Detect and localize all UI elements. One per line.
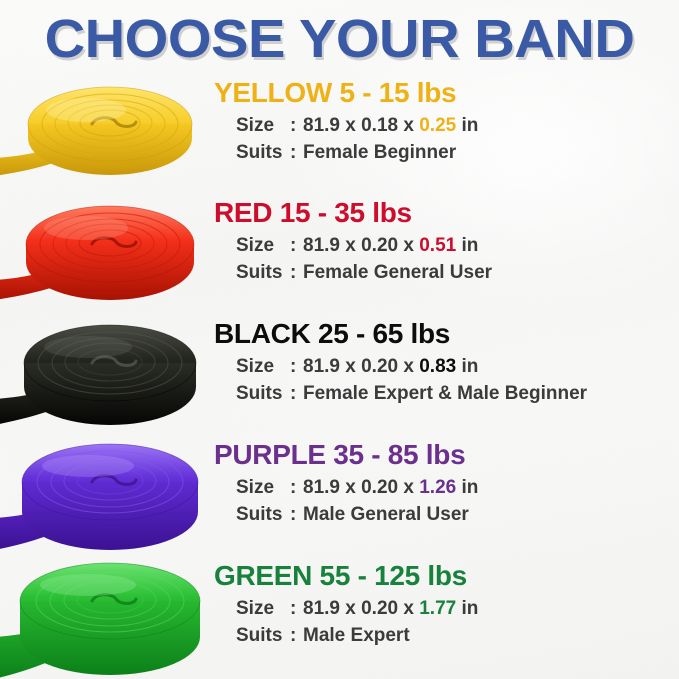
size-unit: in bbox=[461, 115, 478, 136]
suits-label: Suits bbox=[236, 139, 290, 166]
band-row: GREEN 55 - 125 lbs Size:81.9 x 0.20 x 1.… bbox=[0, 555, 679, 675]
size-colon: : bbox=[290, 474, 303, 501]
suits-value: Female General User bbox=[303, 262, 492, 283]
band-row: RED 15 - 35 lbs Size:81.9 x 0.20 x 0.51 … bbox=[0, 192, 679, 312]
band-size-line: Size:81.9 x 0.18 x 0.25 in bbox=[236, 112, 679, 139]
band-heading: YELLOW 5 - 15 lbs bbox=[214, 76, 679, 110]
band-row: YELLOW 5 - 15 lbs Size:81.9 x 0.18 x 0.2… bbox=[0, 72, 679, 192]
band-heading: BLACK 25 - 65 lbs bbox=[214, 317, 679, 351]
suits-label: Suits bbox=[236, 501, 290, 528]
band-photo-yellow bbox=[0, 72, 212, 196]
suits-value: Female Expert & Male Beginner bbox=[303, 383, 587, 404]
suits-colon: : bbox=[290, 259, 303, 286]
suits-label: Suits bbox=[236, 259, 290, 286]
size-label: Size bbox=[236, 232, 290, 259]
band-suits-line: Suits:Female Expert & Male Beginner bbox=[236, 380, 679, 407]
band-suits-line: Suits:Female General User bbox=[236, 259, 679, 286]
size-unit: in bbox=[461, 356, 478, 377]
band-row: PURPLE 35 - 85 lbs Size:81.9 x 0.20 x 1.… bbox=[0, 434, 679, 554]
size-label: Size bbox=[236, 353, 290, 380]
suits-value: Male General User bbox=[303, 504, 469, 525]
size-colon: : bbox=[290, 595, 303, 622]
band-size-line: Size:81.9 x 0.20 x 1.26 in bbox=[236, 474, 679, 501]
band-info: GREEN 55 - 125 lbs Size:81.9 x 0.20 x 1.… bbox=[214, 555, 679, 649]
band-photo-purple bbox=[0, 434, 212, 558]
page-title: CHOOSE YOUR BAND bbox=[0, 8, 679, 70]
size-prefix: 81.9 x 0.20 x bbox=[303, 477, 414, 498]
size-label: Size bbox=[236, 595, 290, 622]
band-photo-green bbox=[0, 555, 212, 679]
size-colon: : bbox=[290, 353, 303, 380]
suits-colon: : bbox=[290, 622, 303, 649]
size-highlight: 0.83 bbox=[419, 356, 456, 377]
band-heading: RED 15 - 35 lbs bbox=[214, 196, 679, 230]
size-prefix: 81.9 x 0.20 x bbox=[303, 598, 414, 619]
band-row: BLACK 25 - 65 lbs Size:81.9 x 0.20 x 0.8… bbox=[0, 313, 679, 433]
size-prefix: 81.9 x 0.20 x bbox=[303, 356, 414, 377]
band-info: YELLOW 5 - 15 lbs Size:81.9 x 0.18 x 0.2… bbox=[214, 72, 679, 166]
suits-value: Male Expert bbox=[303, 625, 410, 646]
band-info: BLACK 25 - 65 lbs Size:81.9 x 0.20 x 0.8… bbox=[214, 313, 679, 407]
size-highlight: 1.26 bbox=[419, 477, 456, 498]
size-highlight: 0.51 bbox=[419, 235, 456, 256]
band-photo-black bbox=[0, 313, 212, 437]
band-suits-line: Suits:Male Expert bbox=[236, 622, 679, 649]
size-unit: in bbox=[461, 235, 478, 256]
suits-colon: : bbox=[290, 501, 303, 528]
band-photo-red bbox=[0, 192, 212, 316]
size-unit: in bbox=[461, 477, 478, 498]
size-colon: : bbox=[290, 232, 303, 259]
size-prefix: 81.9 x 0.18 x bbox=[303, 115, 414, 136]
suits-colon: : bbox=[290, 380, 303, 407]
size-highlight: 0.25 bbox=[419, 115, 456, 136]
size-colon: : bbox=[290, 112, 303, 139]
suits-value: Female Beginner bbox=[303, 142, 456, 163]
size-unit: in bbox=[461, 598, 478, 619]
size-label: Size bbox=[236, 474, 290, 501]
band-info: PURPLE 35 - 85 lbs Size:81.9 x 0.20 x 1.… bbox=[214, 434, 679, 528]
size-prefix: 81.9 x 0.20 x bbox=[303, 235, 414, 256]
band-suits-line: Suits:Male General User bbox=[236, 501, 679, 528]
suits-label: Suits bbox=[236, 622, 290, 649]
band-size-line: Size:81.9 x 0.20 x 0.83 in bbox=[236, 353, 679, 380]
band-size-line: Size:81.9 x 0.20 x 1.77 in bbox=[236, 595, 679, 622]
suits-colon: : bbox=[290, 139, 303, 166]
band-size-line: Size:81.9 x 0.20 x 0.51 in bbox=[236, 232, 679, 259]
suits-label: Suits bbox=[236, 380, 290, 407]
band-suits-line: Suits:Female Beginner bbox=[236, 139, 679, 166]
band-heading: GREEN 55 - 125 lbs bbox=[214, 559, 679, 593]
size-label: Size bbox=[236, 112, 290, 139]
band-heading: PURPLE 35 - 85 lbs bbox=[214, 438, 679, 472]
size-highlight: 1.77 bbox=[419, 598, 456, 619]
band-info: RED 15 - 35 lbs Size:81.9 x 0.20 x 0.51 … bbox=[214, 192, 679, 286]
